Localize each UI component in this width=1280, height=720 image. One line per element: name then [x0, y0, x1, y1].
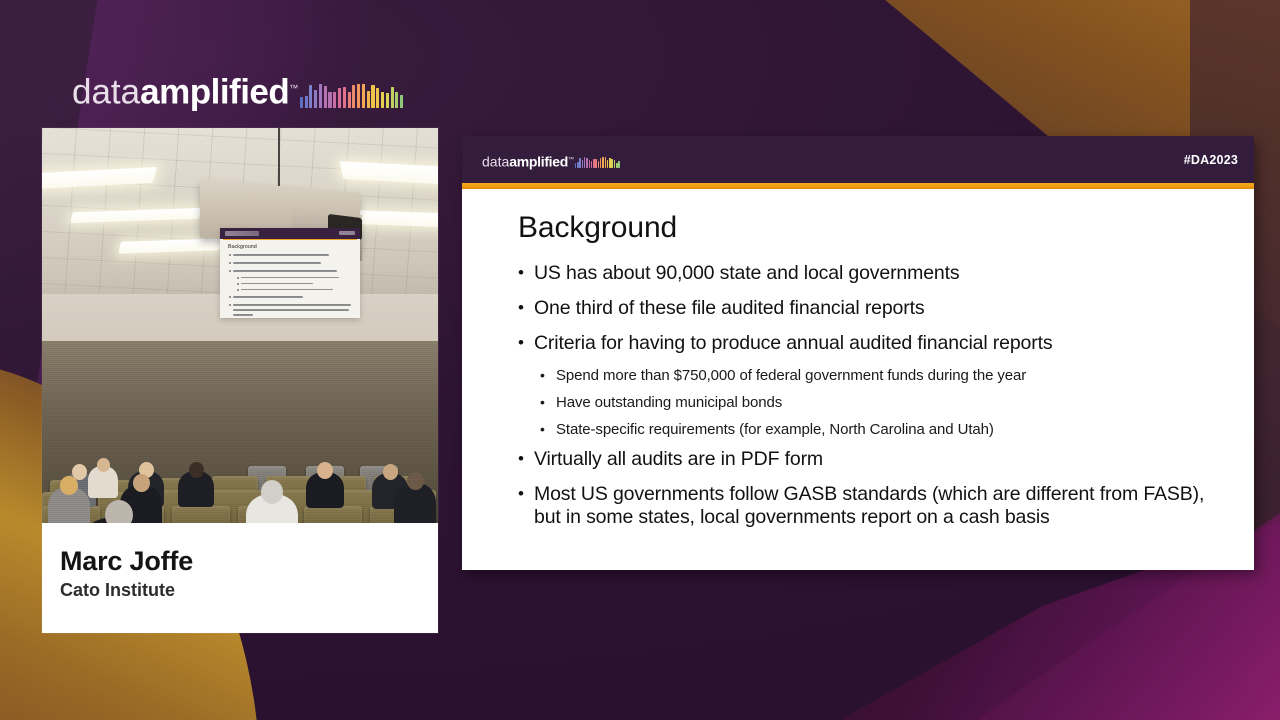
projected-bullet-line — [233, 304, 351, 306]
projected-bullet-dot — [229, 304, 231, 306]
presentation-stage: dataamplified™ Background — [0, 0, 1280, 720]
projected-bullet-line — [233, 309, 349, 311]
audience-chair — [172, 506, 230, 523]
slide-bullet: Most US governments follow GASB standard… — [518, 483, 1214, 529]
projected-bullet-line — [241, 277, 339, 279]
brand-logo-wordmark: dataamplified™ — [72, 71, 298, 110]
audience-member-head — [383, 464, 398, 480]
projected-bullet-dot — [229, 262, 231, 264]
audience-member-head — [407, 472, 424, 490]
equalizer-bars-icon — [300, 76, 404, 108]
speaker-organization: Cato Institute — [60, 578, 438, 602]
brand-logo-trademark: ™ — [289, 83, 298, 93]
slide-brand-logo: dataamplified™ — [482, 151, 620, 169]
slide-bullet: One third of these file audited financia… — [518, 297, 1214, 320]
slide-hashtag: #DA2023 — [1184, 153, 1238, 167]
brand-logo-word-data: data — [72, 73, 140, 112]
projected-slide-title: Background — [228, 244, 257, 250]
audience-member-head — [105, 500, 133, 523]
projected-slide-hashtag — [339, 231, 355, 235]
projected-slide-header — [220, 228, 360, 239]
projected-bullet-line — [233, 296, 303, 298]
audience-chair — [304, 506, 362, 523]
slide-bullet: Virtually all audits are in PDF form — [518, 448, 1214, 471]
slide-title: Background — [518, 211, 1214, 245]
projected-bullet-line — [241, 283, 313, 285]
projected-slide-rule — [223, 239, 357, 240]
slide-sub-bullet-list: Spend more than $750,000 of federal gove… — [518, 367, 1214, 439]
projected-bullet-line — [241, 289, 333, 291]
slide-sub-bullet: State-specific requirements (for example… — [539, 421, 1214, 439]
slide-bullet: US has about 90,000 state and local gove… — [518, 262, 1214, 285]
projected-bullet-dot — [237, 289, 239, 291]
projected-bullet-dot — [229, 270, 231, 272]
projector-cable — [278, 128, 280, 190]
audience-member-head — [97, 458, 110, 472]
speaker-name-card: Marc Joffe Cato Institute — [42, 523, 438, 633]
speaker-photo-panel: Background — [42, 128, 438, 633]
slide-logo-word-data: data — [482, 154, 509, 170]
brand-logo-word-amplified: amplified — [140, 73, 289, 112]
projected-bullet-line — [233, 314, 253, 316]
slide-bullet-list: US has about 90,000 state and local gove… — [518, 262, 1214, 529]
slide-header: dataamplified™ #DA2023 — [462, 136, 1254, 183]
projected-bullet-dot — [237, 277, 239, 279]
slide-bullet: Criteria for having to produce annual au… — [518, 332, 1214, 355]
slide-sub-bullet: Have outstanding municipal bonds — [539, 394, 1214, 412]
speaker-name: Marc Joffe — [60, 545, 438, 577]
equalizer-bars-icon — [575, 155, 620, 168]
slide-logo-word-amplified: amplified — [509, 154, 568, 170]
projected-slide-logo — [225, 231, 259, 236]
audience-member-head — [133, 474, 150, 492]
projected-bullet-line — [233, 254, 329, 256]
projected-bullet-dot — [237, 283, 239, 285]
projected-bullet-line — [233, 262, 321, 264]
audience-member-head — [189, 462, 204, 478]
slide-body: Background US has about 90,000 state and… — [462, 189, 1254, 570]
projection-screen: Background — [220, 228, 360, 318]
slide-sub-bullet: Spend more than $750,000 of federal gove… — [539, 367, 1214, 385]
audience-member-head — [261, 480, 283, 504]
slide-logo-wordmark: dataamplified™ — [482, 153, 574, 169]
projected-bullet-line — [233, 270, 337, 272]
slide-logo-trademark: ™ — [568, 157, 574, 163]
conference-room-photo: Background — [42, 128, 438, 523]
slide: dataamplified™ #DA2023 Background US has… — [462, 136, 1254, 570]
brand-logo: dataamplified™ — [72, 64, 403, 110]
projected-bullet-dot — [229, 296, 231, 298]
projected-bullet-dot — [229, 254, 231, 256]
